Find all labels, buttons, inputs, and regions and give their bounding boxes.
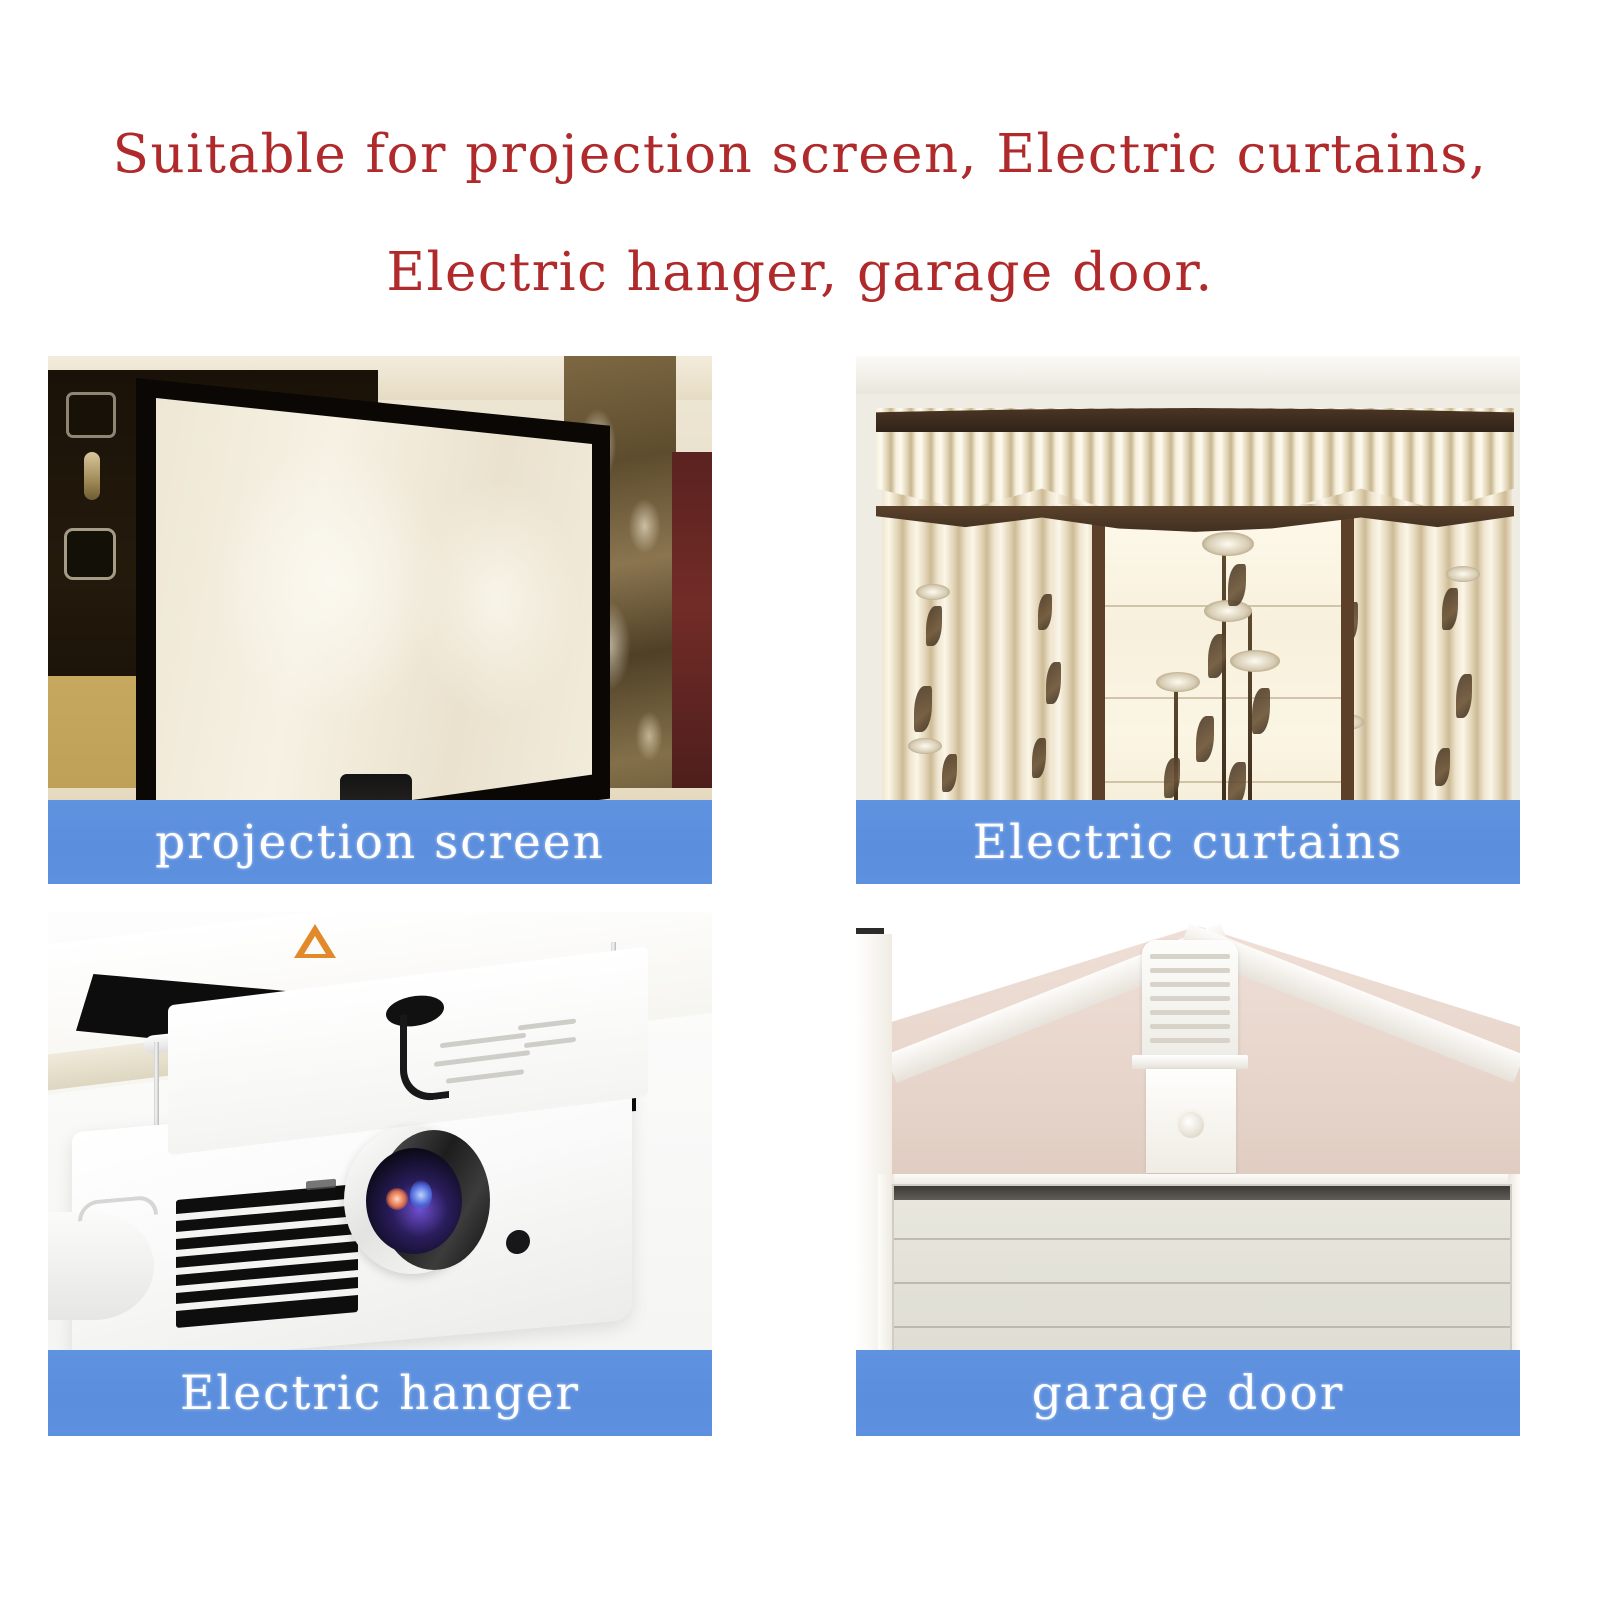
attic-vent-icon	[1142, 940, 1238, 1058]
panel-electric-hanger: Electric hanger	[48, 912, 712, 1436]
valance-top-trim	[876, 408, 1514, 432]
panel-electric-curtains: Electric curtains	[856, 356, 1520, 884]
label-text: garage door	[1032, 1366, 1345, 1421]
power-cable	[400, 1009, 449, 1104]
label-garage-door: garage door	[856, 1350, 1520, 1436]
projector-intake-grille	[176, 1184, 358, 1328]
daisy-flower-icon	[1156, 672, 1200, 692]
page-title: Suitable for projection screen, Electric…	[0, 96, 1600, 332]
label-electric-hanger: Electric hanger	[48, 1350, 712, 1436]
decorative-medallion-icon	[1178, 1112, 1204, 1138]
wall-sconce-icon	[84, 452, 100, 500]
label-text: Electric curtains	[973, 815, 1404, 870]
daisy-flower-icon	[1202, 532, 1254, 556]
wall-switch-icon	[66, 392, 116, 438]
label-text: projection screen	[155, 815, 605, 870]
panel-garage-door: garage door	[856, 912, 1520, 1436]
label-electric-curtains: Electric curtains	[856, 800, 1520, 884]
page-title-line-1: Suitable for projection screen, Electric…	[0, 96, 1600, 214]
page-title-line-2: Electric hanger, garage door.	[0, 214, 1600, 332]
projection-screen-surface	[156, 398, 592, 836]
label-projection-screen: projection screen	[48, 800, 712, 884]
label-text: Electric hanger	[180, 1366, 580, 1421]
daisy-flower-icon	[1230, 650, 1280, 672]
panel-projection-screen: projection screen	[48, 356, 712, 884]
wall-panel-icon	[64, 528, 116, 580]
product-feature-graphic: Suitable for projection screen, Electric…	[0, 0, 1600, 1600]
